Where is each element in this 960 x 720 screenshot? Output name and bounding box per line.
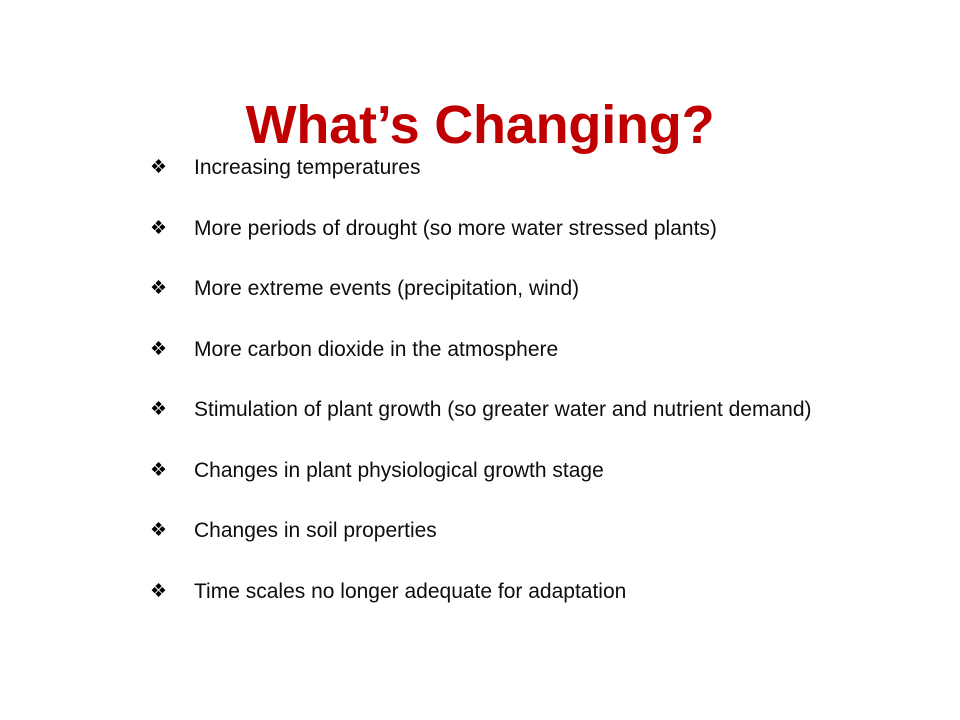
diamond-bullet-icon: ❖ xyxy=(150,337,194,363)
list-item: ❖ Increasing temperatures xyxy=(150,155,940,216)
diamond-bullet-icon: ❖ xyxy=(150,518,194,544)
list-item: ❖ Changes in soil properties xyxy=(150,518,940,579)
list-item-label: Stimulation of plant growth (so greater … xyxy=(194,397,812,423)
list-item-label: Increasing temperatures xyxy=(194,155,420,181)
bullet-list: ❖ Increasing temperatures ❖ More periods… xyxy=(150,155,940,639)
list-item: ❖ More periods of drought (so more water… xyxy=(150,216,940,277)
diamond-bullet-icon: ❖ xyxy=(150,216,194,242)
list-item-label: More periods of drought (so more water s… xyxy=(194,216,717,242)
diamond-bullet-icon: ❖ xyxy=(150,458,194,484)
page-title: What’s Changing? xyxy=(0,94,960,156)
diamond-bullet-icon: ❖ xyxy=(150,579,194,605)
list-item-label: Time scales no longer adequate for adapt… xyxy=(194,579,626,605)
presentation-slide: What’s Changing? ❖ Increasing temperatur… xyxy=(0,0,960,720)
list-item: ❖ Stimulation of plant growth (so greate… xyxy=(150,397,940,458)
list-item-label: More extreme events (precipitation, wind… xyxy=(194,276,579,302)
list-item-label: Changes in plant physiological growth st… xyxy=(194,458,604,484)
list-item-label: More carbon dioxide in the atmosphere xyxy=(194,337,558,363)
diamond-bullet-icon: ❖ xyxy=(150,155,194,181)
list-item: ❖ Time scales no longer adequate for ada… xyxy=(150,579,940,640)
list-item: ❖ Changes in plant physiological growth … xyxy=(150,458,940,519)
list-item: ❖ More extreme events (precipitation, wi… xyxy=(150,276,940,337)
list-item: ❖ More carbon dioxide in the atmosphere xyxy=(150,337,940,398)
diamond-bullet-icon: ❖ xyxy=(150,276,194,302)
diamond-bullet-icon: ❖ xyxy=(150,397,194,423)
list-item-label: Changes in soil properties xyxy=(194,518,437,544)
